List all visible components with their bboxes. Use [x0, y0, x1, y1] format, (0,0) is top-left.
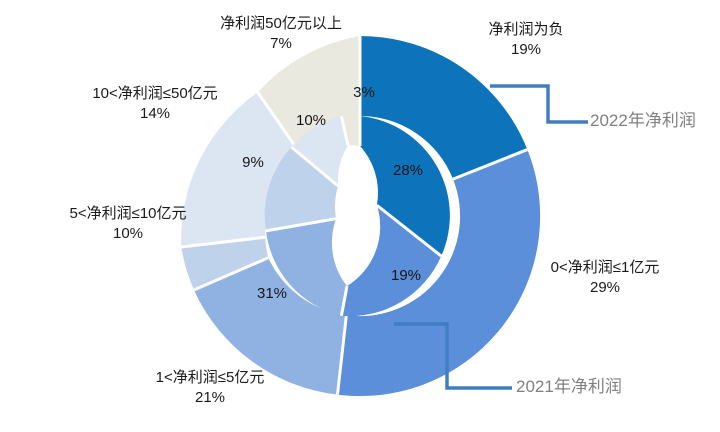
outer-label-5-to-10: 5<净利润≤10亿元 10% — [42, 204, 214, 244]
outer-label-10-to-50-text: 10<净利润≤50亿元 — [92, 85, 217, 102]
outer-label-net-profit-negative-text: 净利润为负 — [488, 21, 563, 38]
outer-label-1-to-5-text: 1<净利润≤5亿元 — [156, 369, 265, 386]
outer-label-0-to-1-text: 0<净利润≤1亿元 — [551, 259, 660, 276]
outer-label-0-to-1: 0<净利润≤1亿元 29% — [512, 258, 698, 298]
outer-label-5-to-10-pct: 10% — [42, 224, 214, 244]
outer-label-above-50-pct: 7% — [186, 34, 376, 54]
outer-label-net-profit-negative: 净利润为负 19% — [448, 20, 604, 60]
outer-label-10-to-50-pct: 14% — [62, 104, 248, 124]
outer-label-0-to-1-pct: 29% — [512, 278, 698, 298]
annotation-series-2021: 2021年净利润 — [516, 376, 622, 398]
outer-label-1-to-5-pct: 21% — [124, 388, 296, 408]
inner-value-10-to-50: 10% — [283, 113, 339, 129]
outer-label-1-to-5: 1<净利润≤5亿元 21% — [124, 368, 296, 408]
inner-value-5-to-10: 9% — [229, 155, 277, 171]
outer-label-net-profit-negative-pct: 19% — [448, 40, 604, 60]
outer-label-above-50: 净利润50亿元以上 7% — [186, 14, 376, 54]
inner-value-above-50: 3% — [340, 85, 388, 101]
inner-value-net-profit-negative: 28% — [378, 163, 438, 179]
nested-doughnut-chart: 净利润为负 19% 0<净利润≤1亿元 29% 1<净利润≤5亿元 21% 5<… — [0, 0, 720, 432]
outer-label-5-to-10-text: 5<净利润≤10亿元 — [69, 205, 186, 222]
inner-value-0-to-1: 19% — [376, 268, 436, 284]
inner-value-1-to-5: 31% — [242, 286, 302, 302]
outer-label-10-to-50: 10<净利润≤50亿元 14% — [62, 84, 248, 124]
annotation-series-2022: 2022年净利润 — [590, 110, 696, 132]
outer-label-above-50-text: 净利润50亿元以上 — [220, 15, 342, 32]
